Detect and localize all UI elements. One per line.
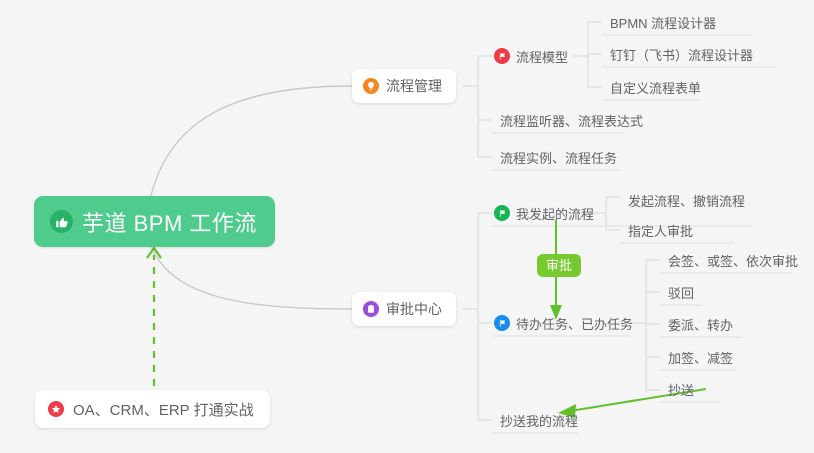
lightbulb-icon: [363, 78, 379, 94]
node-label: 流程模型: [516, 47, 568, 66]
mindmap-canvas: 芋道 BPM 工作流 流程管理 流程模型 BPMN 流程设计器 钉钉（飞书）流程…: [0, 0, 814, 453]
clipboard-icon: [363, 301, 379, 317]
node-label: 会签、或签、依次审批: [668, 251, 798, 270]
node-label: 自定义流程表单: [610, 78, 701, 97]
node-label: 流程实例、流程任务: [500, 148, 617, 167]
node-label: 发起流程、撤销流程: [628, 191, 745, 210]
node-process-model[interactable]: 流程模型: [492, 43, 574, 69]
node-label: BPMN 流程设计器: [610, 13, 716, 32]
node-label: 审批中心: [386, 299, 442, 319]
node-designated-approval[interactable]: 指定人审批: [618, 217, 699, 243]
root-node[interactable]: 芋道 BPM 工作流: [34, 196, 275, 247]
node-process-management[interactable]: 流程管理: [352, 69, 456, 103]
node-start-cancel-process[interactable]: 发起流程、撤销流程: [618, 187, 751, 213]
node-bpmn-designer[interactable]: BPMN 流程设计器: [600, 9, 722, 35]
node-countersign[interactable]: 会签、或签、依次审批: [658, 247, 804, 273]
node-label: 抄送我的流程: [500, 411, 578, 430]
node-add-remove-sign[interactable]: 加签、减签: [658, 344, 739, 370]
node-integration-practice[interactable]: OA、CRM、ERP 打通实战: [35, 390, 270, 428]
node-instance-task[interactable]: 流程实例、流程任务: [490, 144, 623, 170]
star-icon: [48, 401, 64, 417]
node-label: 抄送: [668, 380, 694, 399]
node-label: 委派、转办: [668, 315, 733, 334]
node-label: OA、CRM、ERP 打通实战: [73, 399, 254, 420]
node-todo-done-tasks[interactable]: 待办任务、已办任务: [492, 310, 639, 336]
node-label: 驳回: [668, 283, 694, 302]
node-label: 我发起的流程: [516, 204, 594, 223]
node-cc-to-me[interactable]: 抄送我的流程: [490, 407, 584, 433]
node-reject[interactable]: 驳回: [658, 279, 700, 305]
root-arrow-head: [147, 248, 161, 258]
thumbs-up-icon: [50, 210, 73, 233]
node-custom-process-form[interactable]: 自定义流程表单: [600, 74, 707, 100]
node-my-initiated[interactable]: 我发起的流程: [492, 200, 600, 226]
node-label: 待办任务、已办任务: [516, 314, 633, 333]
node-delegate-transfer[interactable]: 委派、转办: [658, 311, 739, 337]
flag-icon: [494, 48, 510, 64]
flag-icon: [494, 315, 510, 331]
root-label: 芋道 BPM 工作流: [82, 206, 257, 238]
node-cc[interactable]: 抄送: [658, 376, 700, 402]
flag-icon: [494, 205, 510, 221]
annotation-label: 审批: [546, 258, 572, 273]
node-label: 指定人审批: [628, 221, 693, 240]
node-label: 钉钉（飞书）流程设计器: [610, 45, 753, 64]
node-label: 加签、减签: [668, 348, 733, 367]
node-label: 流程管理: [386, 76, 442, 96]
node-listener-expression[interactable]: 流程监听器、流程表达式: [490, 107, 649, 133]
annotation-approval: 审批: [537, 254, 581, 277]
node-dingtalk-feishu-designer[interactable]: 钉钉（飞书）流程设计器: [600, 41, 759, 67]
node-label: 流程监听器、流程表达式: [500, 111, 643, 130]
node-approval-center[interactable]: 审批中心: [352, 292, 456, 326]
